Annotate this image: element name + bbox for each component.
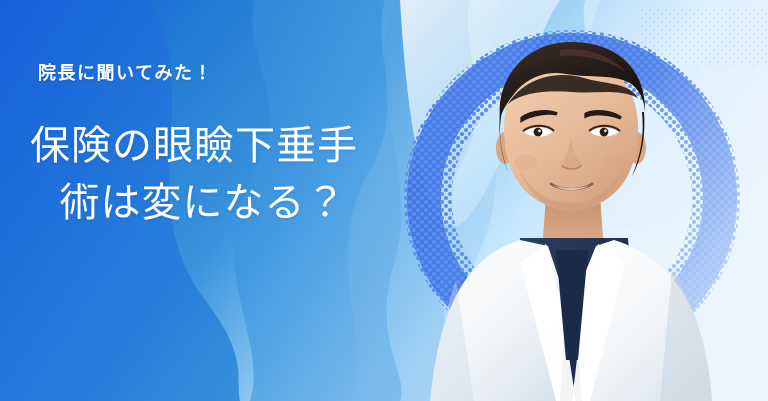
banner-title: 保険の眼瞼下垂手 術は変になる？ — [26, 118, 396, 232]
banner-title-line-1: 保険の眼瞼下垂手 — [26, 118, 396, 175]
promo-banner: 院長に聞いてみた！ 保険の眼瞼下垂手 術は変になる？ — [0, 0, 768, 401]
banner-title-line-2: 術は変になる？ — [26, 175, 396, 232]
banner-kicker: 院長に聞いてみた！ — [38, 64, 213, 82]
